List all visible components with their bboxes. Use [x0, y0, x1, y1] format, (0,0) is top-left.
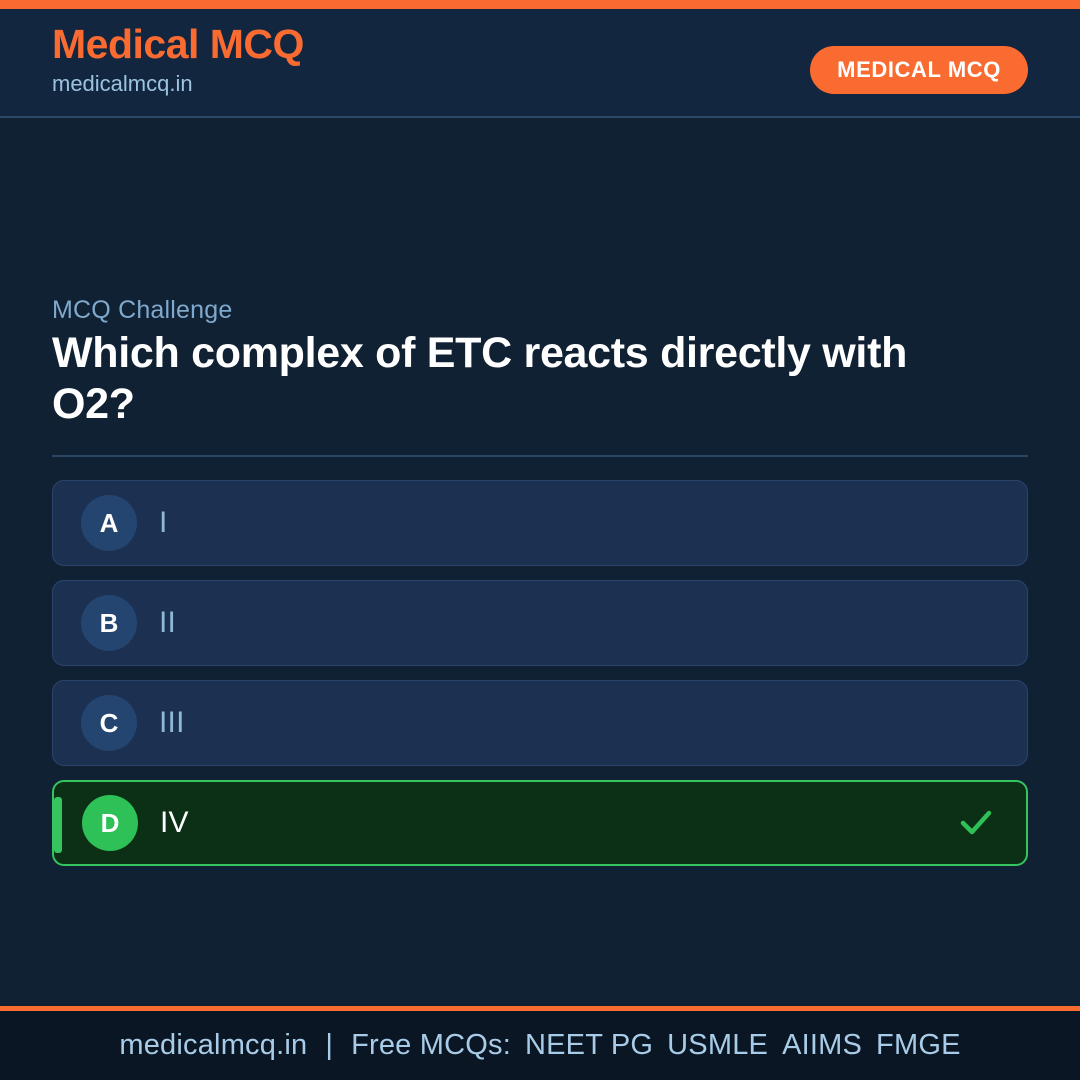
- option-row-c[interactable]: C III: [52, 680, 1028, 766]
- brand-subtitle: medicalmcq.in: [52, 70, 304, 99]
- page-footer: medicalmcq.in|Free MCQs:NEET PGUSMLEAIIM…: [0, 1006, 1080, 1080]
- option-row-a[interactable]: A I: [52, 480, 1028, 566]
- main-content: MCQ Challenge Which complex of ETC react…: [0, 120, 1080, 1006]
- footer-separator: |: [325, 1029, 333, 1061]
- option-text-a: I: [159, 506, 168, 540]
- footer-tag-neet-pg: NEET PG: [525, 1029, 653, 1061]
- top-accent-bar: [0, 0, 1080, 9]
- options-list: A I B II C III D IV: [52, 480, 1028, 880]
- option-row-b[interactable]: B II: [52, 580, 1028, 666]
- question-kicker: MCQ Challenge: [52, 296, 232, 325]
- footer-site: medicalmcq.in: [119, 1029, 307, 1061]
- footer-label: Free MCQs:: [351, 1029, 511, 1061]
- option-letter-badge-d: D: [82, 795, 138, 851]
- option-letter-badge-b: B: [81, 595, 137, 651]
- footer-tag-usmle: USMLE: [667, 1029, 768, 1061]
- footer-tag-aiims: AIIMS: [782, 1029, 862, 1061]
- brand-block: Medical MCQ medicalmcq.in: [52, 21, 304, 99]
- question-text: Which complex of ETC reacts directly wit…: [52, 328, 952, 429]
- check-icon: [958, 805, 994, 841]
- footer-text: medicalmcq.in|Free MCQs:NEET PGUSMLEAIIM…: [119, 1029, 960, 1062]
- option-text-b: II: [159, 606, 176, 640]
- option-text-d: IV: [160, 806, 189, 840]
- question-divider: [52, 455, 1028, 457]
- footer-tag-fmge: FMGE: [876, 1029, 961, 1061]
- option-letter-badge-c: C: [81, 695, 137, 751]
- correct-accent-bar: [54, 797, 62, 853]
- page-header: Medical MCQ medicalmcq.in MEDICAL MCQ: [0, 9, 1080, 118]
- option-text-c: III: [159, 706, 185, 740]
- option-row-d[interactable]: D IV: [52, 780, 1028, 866]
- brand-title: Medical MCQ: [52, 21, 304, 68]
- header-badge: MEDICAL MCQ: [810, 46, 1028, 94]
- option-letter-badge-a: A: [81, 495, 137, 551]
